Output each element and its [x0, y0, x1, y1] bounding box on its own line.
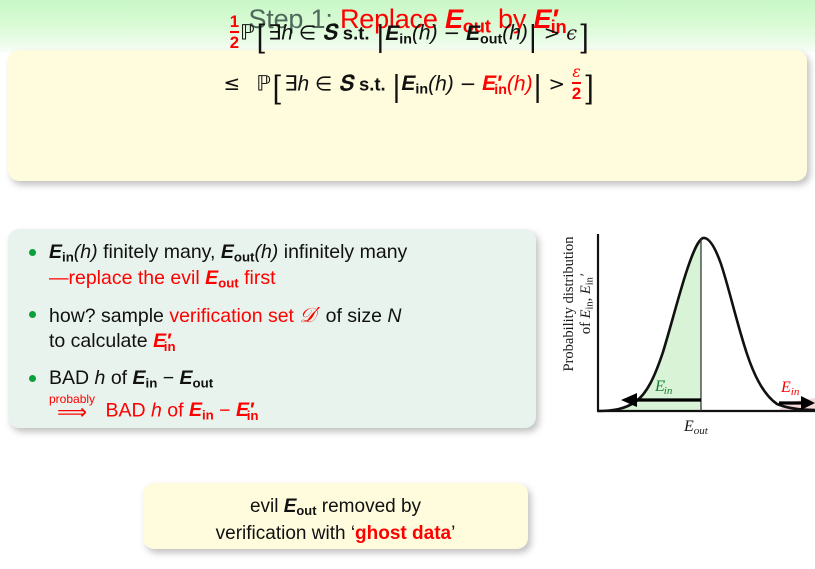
summary-verification-text: verification with ‘ — [216, 523, 355, 544]
summary-evil-text: evil — [250, 496, 279, 517]
left-bracket: [ — [256, 18, 266, 58]
summary-line-2: verification with ‘ghost data’ — [143, 521, 528, 548]
hypothesis-set-symbol: 𝐒 — [322, 21, 337, 46]
formula-content: 1 2 ℙ[∃h ∈ 𝐒 s.t. |Ein(h) − Eout(h)| > ϵ… — [0, 0, 799, 131]
list-item: BAD h of Ein − Eout — [22, 366, 522, 392]
bullet-3-einprime-symbol: E′in — [236, 399, 258, 421]
eout-arg: (h) — [502, 22, 528, 45]
minus-symbol: − — [443, 21, 460, 45]
probably-implies-icon: probably ⟹ — [49, 393, 95, 423]
leq-symbol: ≤ — [223, 71, 240, 95]
ein-h-arg: (h) — [74, 241, 98, 263]
bullet-3-line-2: BAD h of Ein − E′in — [100, 399, 258, 421]
bullet-3-minus-2: − — [219, 399, 230, 421]
bullet-3-bad-text-2: BAD — [105, 399, 145, 421]
such-that-text: s.t. — [343, 23, 370, 44]
probability-symbol: ℙ — [240, 21, 255, 45]
summary-quote-close: ’ — [451, 523, 455, 544]
bullet-1-tail-text: first — [244, 267, 275, 289]
einprime-arg: (h) — [507, 72, 533, 95]
bullet-1-text-a: finitely many, — [103, 241, 215, 263]
ein-h-symbol: Ein — [49, 241, 74, 263]
abs-bar-open-2: | — [391, 69, 401, 103]
distribution-chart: Probability distribution of Ein, Ein′ — [545, 228, 815, 436]
bullet-3-eout-symbol: Eout — [180, 367, 214, 389]
bullet-2-line-1: how? sample verification set 𝒟′ of size … — [49, 302, 522, 329]
slide-root: Step 1: Replace Eout by E′in 1 2 ℙ[∃h ∈ … — [0, 0, 815, 569]
ein-arg-2: (h) — [428, 72, 454, 95]
einprime-symbol-inline: E′in — [153, 330, 175, 352]
summary-eout-symbol: Eout — [284, 496, 317, 517]
einprime-h-term: E′in — [482, 72, 507, 95]
bullet-2-text-c: of size — [326, 305, 382, 327]
formula-line-2: ≤ℙ[∃h ∈ 𝐒 s.t. |Ein(h) − E′in(h)| > ε 2 … — [0, 65, 809, 109]
exists-symbol: ∃ — [268, 21, 281, 45]
ein-annotation: Ein — [780, 379, 800, 398]
summary-removed-text: removed by — [322, 496, 421, 517]
chart-svg: Ein′ Ein Eout — [589, 228, 815, 436]
bullet-3-of-text: of — [111, 367, 127, 389]
var-h: h — [281, 22, 293, 45]
bullet-2-line-2: to calculate E′in — [49, 329, 522, 355]
bullet-1-text-b: infinitely many — [284, 241, 408, 263]
bullet-list: Ein(h) finitely many, Eout(h) infinitely… — [22, 240, 522, 424]
summary-line-1: evil Eout removed by — [143, 494, 528, 521]
right-bracket-2: ] — [584, 69, 594, 109]
dataset-prime-symbol: 𝒟′ — [299, 303, 320, 327]
one-half-fraction: 1 2 — [230, 13, 239, 51]
bullet-2-text-d: to calculate — [49, 330, 148, 352]
bullet-3-ein-symbol: Ein — [133, 367, 158, 389]
eout-symbol-inline: Eout — [205, 267, 239, 289]
ghost-data-highlight: ghost data — [355, 523, 451, 544]
bullet-3-of-text-2: of — [167, 399, 183, 421]
chart-x-axis-label: Eout — [683, 418, 709, 436]
bullet-dot-icon — [29, 311, 36, 318]
sample-size-N: N — [387, 305, 401, 327]
eout-h-symbol: Eout — [221, 241, 255, 263]
such-that-text-2: s.t. — [359, 73, 386, 94]
bullet-1-line-2: —replace the evil Eout first — [49, 266, 522, 292]
list-item: Ein(h) finitely many, Eout(h) infinitely… — [22, 240, 522, 291]
abs-bar-close: | — [528, 19, 538, 53]
hypothesis-set-symbol-2: 𝐒 — [338, 71, 353, 96]
member-symbol-2: ∈ — [315, 71, 332, 95]
bullet-3-bad-text: BAD — [49, 367, 89, 389]
bullet-1-dash-text: —replace the evil — [49, 267, 200, 289]
bullet-3-var-h: h — [95, 367, 106, 389]
greater-than-symbol-2: > — [548, 71, 565, 95]
formula-line-1: 1 2 ℙ[∃h ∈ 𝐒 s.t. |Ein(h) − Eout(h)| > ϵ… — [0, 13, 809, 58]
epsilon-symbol: ϵ — [566, 22, 577, 45]
epsilon-over-two-fraction: ε 2 — [572, 65, 581, 102]
abs-bar-close-2: | — [533, 69, 543, 103]
var-h-2: h — [297, 72, 309, 95]
bullet-3-minus: − — [163, 367, 174, 389]
greater-than-symbol: > — [544, 21, 561, 45]
bullet-dot-icon — [29, 249, 36, 256]
bullet-2-verification-text: verification set — [169, 305, 294, 327]
bullet-3-implication: probably ⟹ BAD h of Ein − E′in — [22, 393, 522, 424]
right-bracket: ] — [578, 18, 588, 58]
list-item: how? sample verification set 𝒟′ of size … — [22, 302, 522, 355]
bullet-1-line-1: Ein(h) finitely many, Eout(h) infinitely… — [49, 240, 522, 266]
abs-bar-open: | — [375, 19, 385, 53]
ein-h-term-2: Ein — [401, 72, 428, 95]
bullet-3-ein-symbol-2: Ein — [189, 399, 214, 421]
eout-h-term: Eout — [466, 22, 502, 45]
bullet-3-var-h-2: h — [151, 399, 162, 421]
bullet-2-text-a: how? sample — [49, 305, 164, 327]
eout-h-arg: (h) — [254, 241, 278, 263]
exists-symbol-2: ∃ — [284, 71, 297, 95]
ein-arg: (h) — [412, 22, 438, 45]
probability-symbol-2: ℙ — [256, 71, 271, 95]
ein-h-term: Ein — [385, 22, 412, 45]
minus-symbol-2: − — [460, 71, 477, 95]
bullet-3-line-1: BAD h of Ein − Eout — [49, 366, 522, 392]
left-bracket-2: [ — [272, 69, 282, 109]
bullet-dot-icon — [29, 375, 36, 382]
member-symbol: ∈ — [299, 21, 316, 45]
summary-text: evil Eout removed by verification with ‘… — [143, 494, 528, 548]
